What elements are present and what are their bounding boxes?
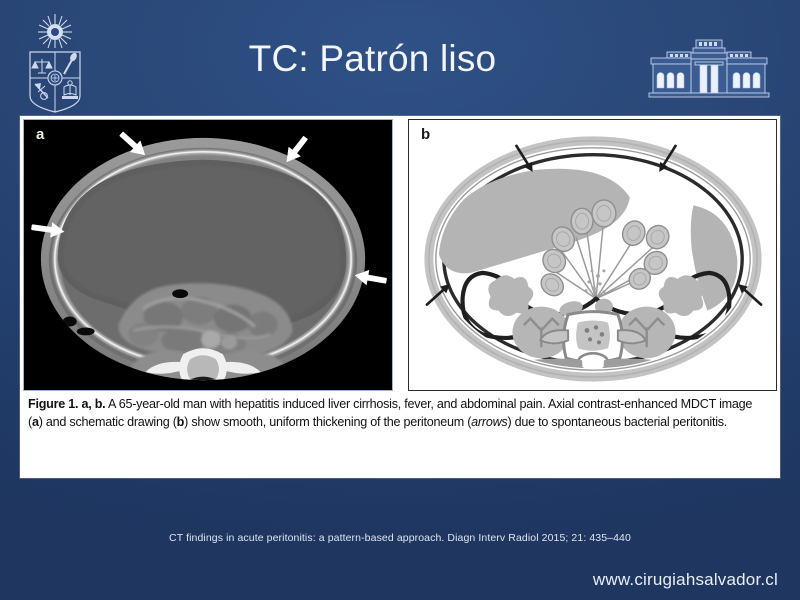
panel-label-a: a — [36, 126, 44, 143]
caption-text-2: ) and schematic drawing ( — [39, 415, 177, 429]
caption-lead: Figure 1. a, b. — [28, 397, 105, 411]
schematic-drawing-panel-b: b — [408, 119, 777, 391]
caption-bold-a: a — [32, 415, 39, 429]
caption-bold-b: b — [177, 415, 184, 429]
slide-canvas: TC: Patrón liso — [0, 0, 800, 600]
source-citation: CT findings in acute peritonitis: a patt… — [0, 532, 800, 544]
figure-block: a — [20, 116, 780, 478]
figure-panels: a — [23, 119, 777, 391]
caption-text-4: ) due to spontaneous bacterial peritonit… — [507, 415, 727, 429]
panel-label-b: b — [421, 126, 430, 143]
universidad-de-chile-crest-icon — [18, 8, 92, 116]
figure-caption: Figure 1. a, b. A 65-year-old man with h… — [28, 396, 768, 432]
hospital-building-facade-icon — [645, 36, 773, 102]
caption-italic-arrows: arrows — [471, 415, 507, 429]
site-url-link[interactable]: www.cirugiahsalvador.cl — [593, 570, 778, 590]
ct-axial-image-panel-a: a — [23, 119, 393, 391]
page-title: TC: Patrón liso — [110, 38, 635, 80]
caption-text-3: ) show smooth, uniform thickening of the… — [184, 415, 471, 429]
